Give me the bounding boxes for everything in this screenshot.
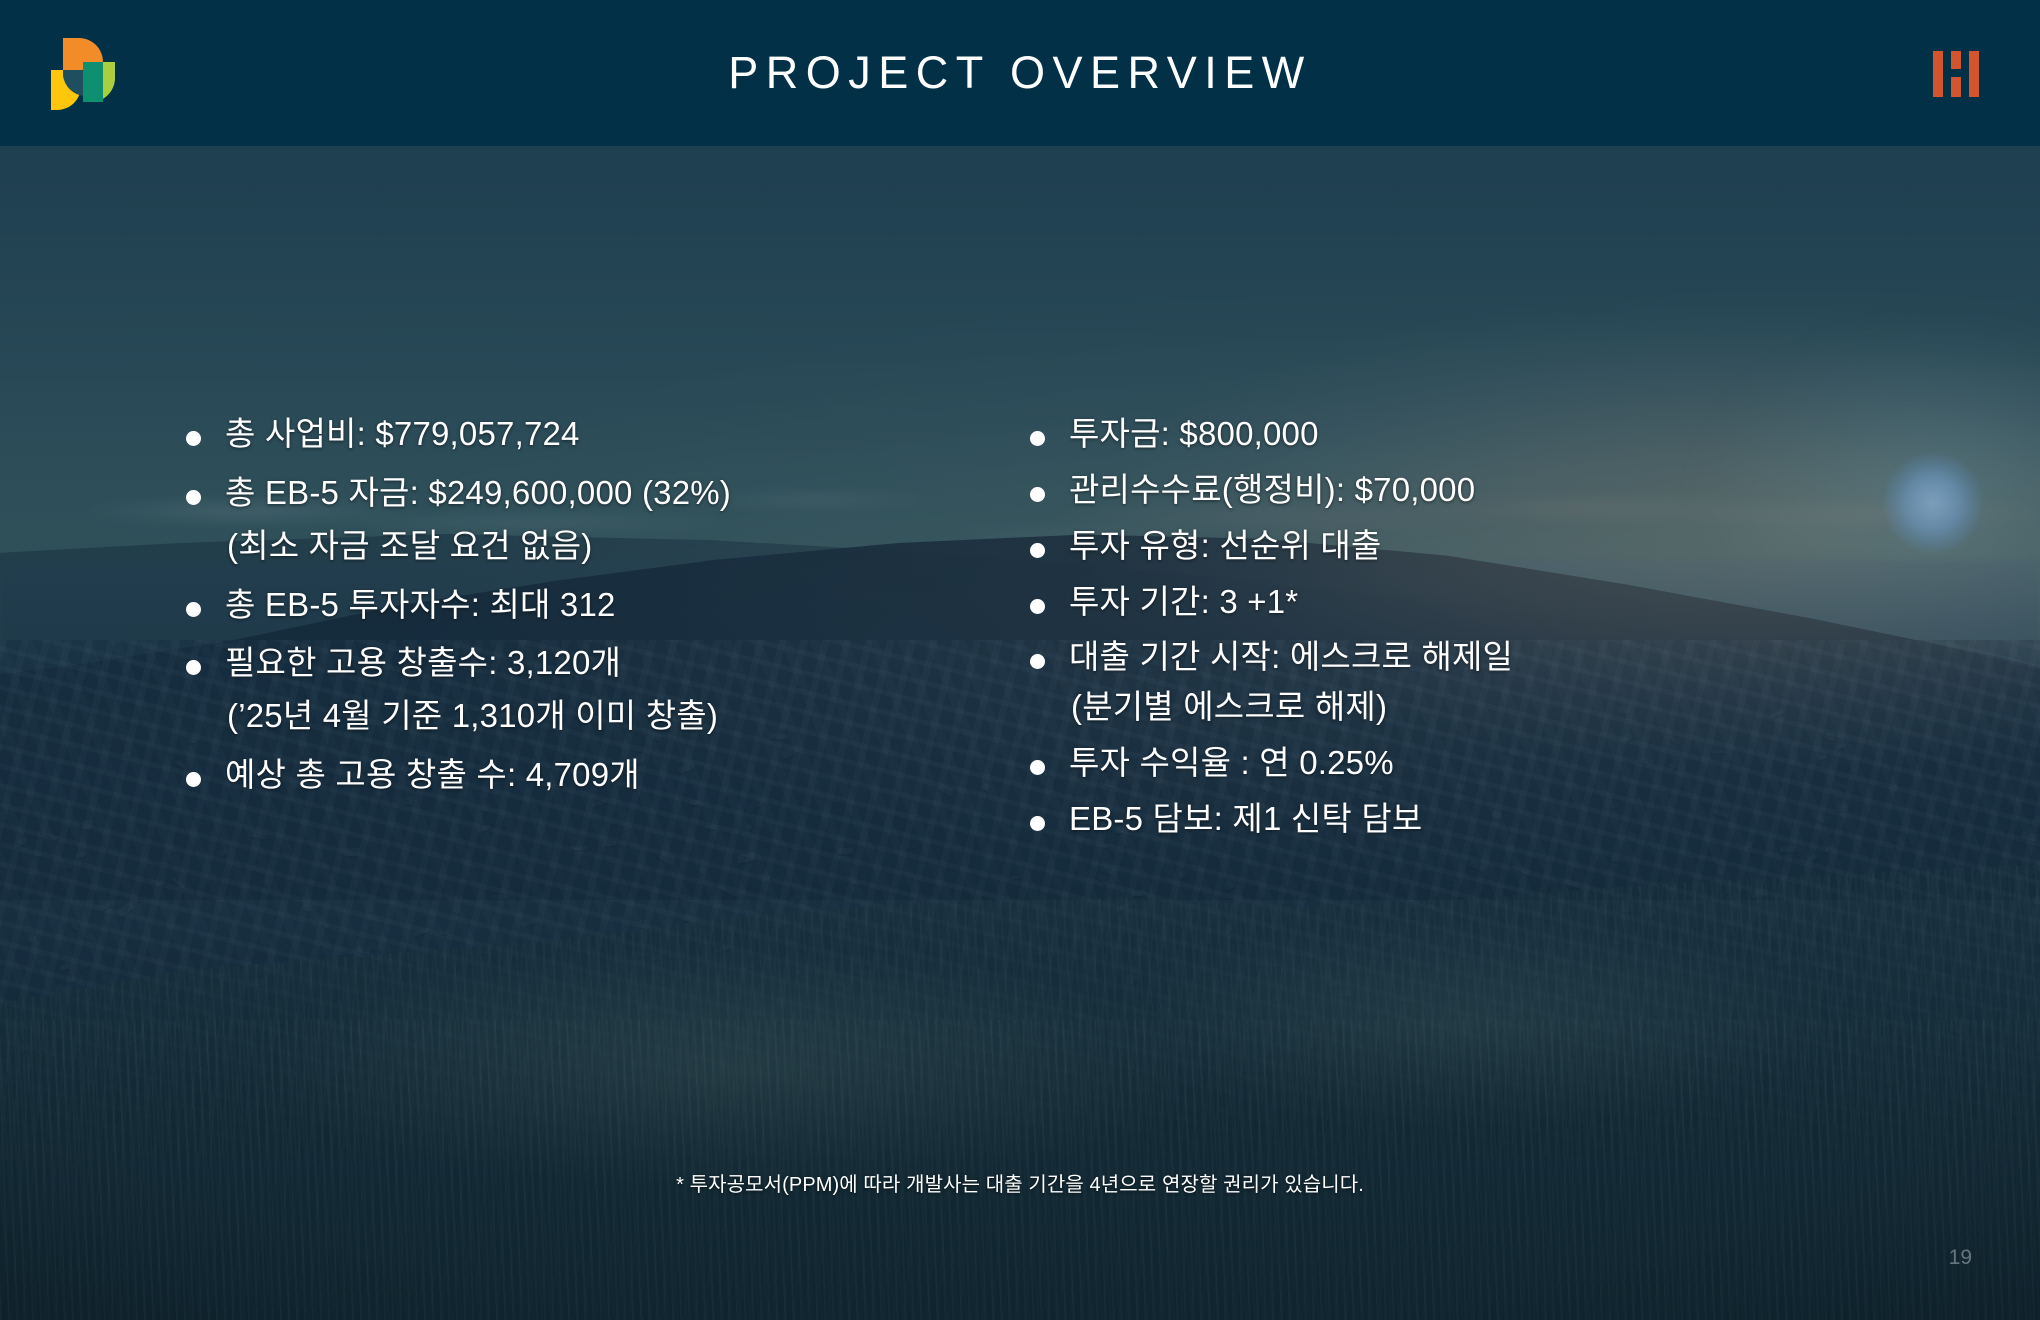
footnote: * 투자공모서(PPM)에 따라 개발사는 대출 기간을 4년으로 연장할 권리… (0, 1168, 2040, 1197)
bullet-dot-icon (186, 660, 201, 675)
slide-content: 총 사업비: $779,057,724총 EB-5 자금: $249,600,0… (0, 146, 2040, 1320)
h-monogram-icon[interactable] (1930, 48, 1982, 100)
bullet-item: 투자 수익율 : 연 0.25% (1030, 740, 1850, 787)
bullet-item: EB-5 담보: 제1 신탁 담보 (1030, 796, 1850, 843)
left-bullet-column: 총 사업비: $779,057,724총 EB-5 자금: $249,600,0… (186, 411, 976, 811)
page-number: 19 (1949, 1246, 1972, 1270)
bullet-text: (’25년 4월 기준 1,310개 이미 창출) (225, 693, 718, 740)
right-bullet-column: 투자금: $800,000관리수수료(행정비): $70,000투자 유형: 선… (1030, 411, 1850, 852)
bullet-text: EB-5 담보: 제1 신탁 담보 (1069, 796, 1422, 843)
bullet-item: 필요한 고용 창출수: 3,120개 (186, 640, 976, 687)
bullet-text: 총 EB-5 자금: $249,600,000 (32%) (225, 470, 731, 517)
bullet-item: 대출 기간 시작: 에스크로 해제일 (1030, 634, 1850, 681)
bullet-text: 투자 유형: 선순위 대출 (1069, 523, 1382, 570)
bullet-text: 예상 총 고용 창출 수: 4,709개 (225, 752, 640, 799)
bullet-item: 투자 유형: 선순위 대출 (1030, 523, 1850, 570)
bullet-dot-icon (1030, 816, 1045, 831)
bullet-text: (분기별 에스크로 해제) (1069, 684, 1387, 731)
bullet-item: 예상 총 고용 창출 수: 4,709개 (186, 752, 976, 799)
bullet-item: 관리수수료(행정비): $70,000 (1030, 467, 1850, 514)
bullet-text: 총 EB-5 투자자수: 최대 312 (225, 582, 616, 629)
bullet-subitem: (최소 자금 조달 요건 없음) (186, 523, 976, 570)
bullet-dot-icon (1030, 431, 1045, 446)
bullet-text: (최소 자금 조달 요건 없음) (225, 523, 592, 570)
bullet-item: 투자 기간: 3 +1* (1030, 579, 1850, 626)
bullet-dot-icon (186, 431, 201, 446)
bullet-dot-icon (186, 602, 201, 617)
bullet-item: 총 사업비: $779,057,724 (186, 411, 976, 458)
bullet-text: 투자 기간: 3 +1* (1069, 579, 1298, 626)
bullet-dot-icon (1030, 654, 1045, 669)
page-title: PROJECT OVERVIEW (0, 0, 2040, 146)
bullet-dot-icon (186, 772, 201, 787)
bullet-dot-icon (1030, 487, 1045, 502)
bullet-text: 총 사업비: $779,057,724 (225, 411, 580, 458)
bullet-dot-icon (186, 490, 201, 505)
bullet-text: 투자 수익율 : 연 0.25% (1069, 740, 1394, 787)
slide-root: PROJECT OVERVIEW 총 사업비: $779,057,724총 EB… (0, 0, 2040, 1320)
bullet-dot-icon (1030, 760, 1045, 775)
bullet-subitem: (분기별 에스크로 해제) (1030, 684, 1850, 731)
bullet-item: 투자금: $800,000 (1030, 411, 1850, 458)
header-bar: PROJECT OVERVIEW (0, 0, 2040, 146)
bullet-text: 대출 기간 시작: 에스크로 해제일 (1069, 634, 1513, 681)
bullet-item: 총 EB-5 자금: $249,600,000 (32%) (186, 470, 976, 517)
bullet-text: 필요한 고용 창출수: 3,120개 (225, 640, 621, 687)
bullet-text: 투자금: $800,000 (1069, 411, 1319, 458)
bullet-subitem: (’25년 4월 기준 1,310개 이미 창출) (186, 693, 976, 740)
bullet-text: 관리수수료(행정비): $70,000 (1069, 467, 1475, 514)
bullet-item: 총 EB-5 투자자수: 최대 312 (186, 582, 976, 629)
bullet-dot-icon (1030, 543, 1045, 558)
bullet-dot-icon (1030, 599, 1045, 614)
